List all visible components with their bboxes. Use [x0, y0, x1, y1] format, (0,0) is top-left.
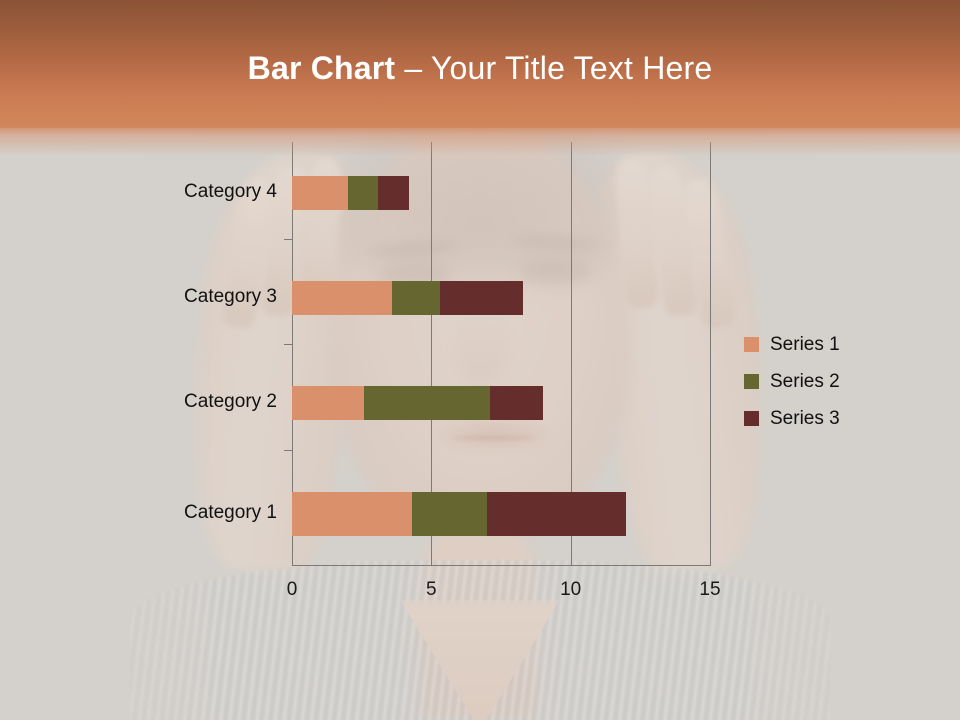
category-tick-1: [284, 239, 292, 240]
legend-item-3[interactable]: Series 3: [744, 400, 840, 437]
gridline-15: [710, 142, 711, 566]
bar-segment-1[interactable]: [292, 492, 412, 536]
slide-canvas: Bar Chart – Your Title Text Here Categor…: [0, 0, 960, 720]
x-tick-label: 15: [699, 579, 720, 601]
legend-item-1[interactable]: Series 1: [744, 326, 840, 363]
legend-label: Series 2: [770, 371, 840, 393]
x-axis-line: [292, 565, 710, 566]
title-bold-part: Bar Chart: [248, 50, 396, 86]
legend-swatch-icon: [744, 337, 759, 352]
bar-segment-2[interactable]: [364, 386, 489, 420]
bar-segment-2[interactable]: [412, 492, 487, 536]
x-tick-label: 0: [287, 579, 298, 601]
category-label: Category 4: [0, 181, 277, 203]
bar-segment-1[interactable]: [292, 386, 364, 420]
bar-segment-1[interactable]: [292, 176, 348, 210]
x-tick-label: 10: [560, 579, 581, 601]
bar-row[interactable]: [292, 386, 543, 420]
title-dash: –: [395, 50, 431, 86]
category-label: Category 1: [0, 502, 277, 524]
bar-segment-3[interactable]: [440, 281, 524, 315]
bar-row[interactable]: [292, 492, 626, 536]
legend-swatch-icon: [744, 374, 759, 389]
bar-segment-2[interactable]: [392, 281, 439, 315]
bar-row[interactable]: [292, 281, 523, 315]
bar-segment-3[interactable]: [378, 176, 409, 210]
chart-legend: Series 1Series 2Series 3: [744, 326, 840, 437]
bar-segment-3[interactable]: [487, 492, 626, 536]
legend-label: Series 1: [770, 334, 840, 356]
category-label: Category 2: [0, 391, 277, 413]
slide-title: Bar Chart – Your Title Text Here: [0, 48, 960, 88]
category-label: Category 3: [0, 286, 277, 308]
category-tick-3: [284, 450, 292, 451]
legend-item-2[interactable]: Series 2: [744, 363, 840, 400]
plot-area: [292, 142, 710, 566]
bar-row[interactable]: [292, 176, 409, 210]
legend-swatch-icon: [744, 411, 759, 426]
x-tick-label: 5: [426, 579, 437, 601]
bar-segment-3[interactable]: [490, 386, 543, 420]
bar-segment-2[interactable]: [348, 176, 379, 210]
category-tick-2: [284, 344, 292, 345]
bar-segment-1[interactable]: [292, 281, 392, 315]
legend-label: Series 3: [770, 408, 840, 430]
title-rest-part: Your Title Text Here: [431, 50, 712, 86]
